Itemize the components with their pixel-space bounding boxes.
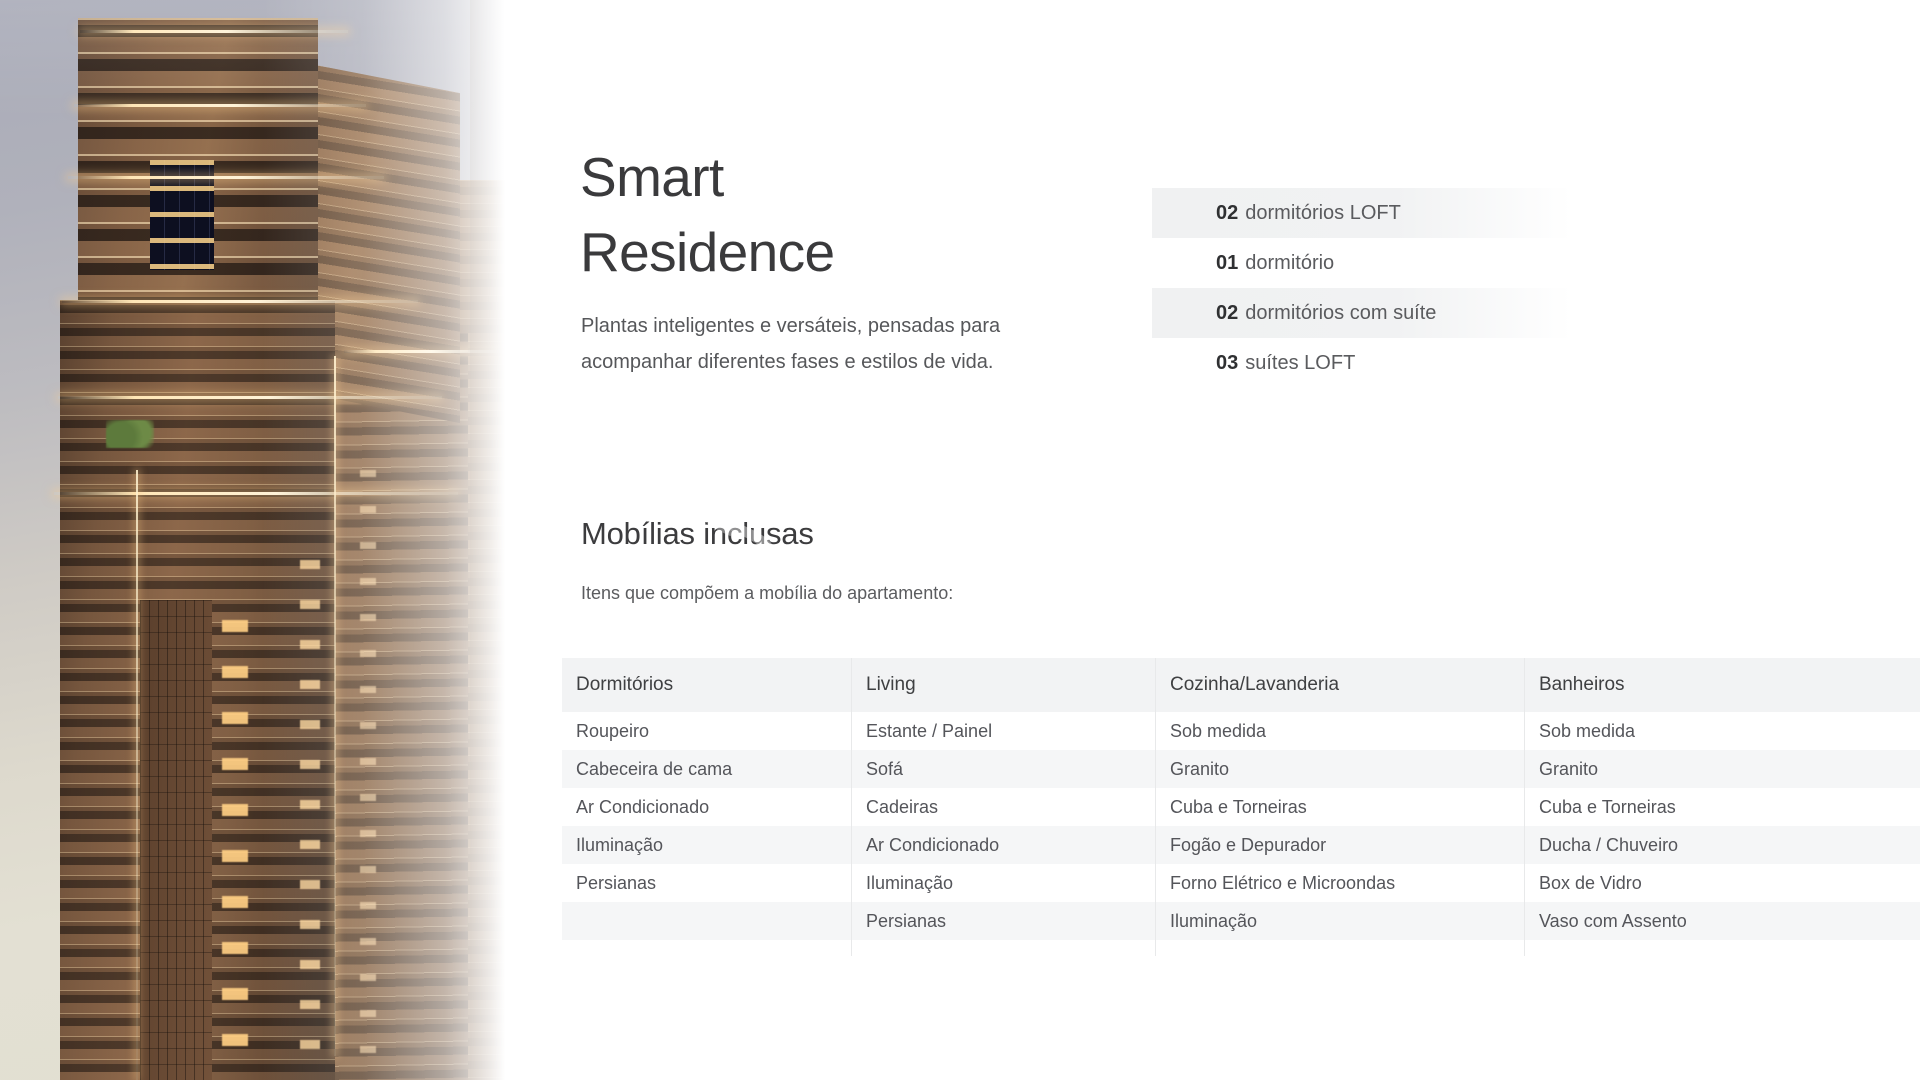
- table-row: Cabeceira de camaSofáGranitoGranito: [562, 750, 1920, 788]
- unit-type-row[interactable]: 02dormitórios LOFT: [1152, 188, 1572, 238]
- furniture-item-cell: Roupeiro: [576, 712, 649, 750]
- furniture-section-title: Mobílias inclusas: [581, 516, 814, 552]
- unit-type-label: dormitórios com suíte: [1245, 302, 1436, 325]
- furniture-item-cell: Estante / Painel: [866, 712, 992, 750]
- column-divider-2: [1155, 658, 1156, 956]
- furniture-table: DormitóriosLivingCozinha/LavanderiaBanhe…: [562, 658, 1920, 956]
- table-tail-whitespace: [562, 956, 1920, 1080]
- furniture-item-cell: Vaso com Assento: [1539, 902, 1687, 940]
- unit-type-count: 03: [1216, 352, 1238, 375]
- furniture-table-header-row: DormitóriosLivingCozinha/LavanderiaBanhe…: [562, 658, 1920, 712]
- page-title-line-1: Smart: [580, 140, 1010, 215]
- furniture-item-cell: Granito: [1170, 750, 1229, 788]
- column-divider-1: [851, 658, 852, 956]
- furniture-item-cell: Forno Elétrico e Microondas: [1170, 864, 1395, 902]
- page-lead-text: Plantas inteligentes e versáteis, pensad…: [581, 308, 1081, 380]
- furniture-column-header: Dormitórios: [576, 658, 673, 712]
- table-row: IluminaçãoAr CondicionadoFogão e Depurad…: [562, 826, 1920, 864]
- furniture-item-cell: Persianas: [576, 864, 656, 902]
- furniture-item-cell: Sofá: [866, 750, 903, 788]
- page-title-line-2: Residence: [580, 215, 1010, 290]
- furniture-item-cell: Cadeiras: [866, 788, 938, 826]
- unit-type-row[interactable]: 02dormitórios com suíte: [1152, 288, 1572, 338]
- unit-type-count: 02: [1216, 202, 1238, 225]
- page-title: Smart Residence: [580, 140, 1010, 290]
- furniture-column-header: Banheiros: [1539, 658, 1625, 712]
- furniture-section-subtitle: Itens que compõem a mobília do apartamen…: [581, 583, 953, 604]
- unit-type-row[interactable]: 03suítes LOFT: [1152, 338, 1572, 388]
- table-row: PersianasIluminaçãoVaso com Assento: [562, 902, 1920, 940]
- unit-type-row[interactable]: 01dormitório: [1152, 238, 1572, 288]
- furniture-item-cell: Sob medida: [1170, 712, 1266, 750]
- furniture-item-cell: Ar Condicionado: [576, 788, 709, 826]
- table-row: Ar CondicionadoCadeirasCuba e TorneirasC…: [562, 788, 1920, 826]
- furniture-item-cell: Fogão e Depurador: [1170, 826, 1326, 864]
- unit-type-count: 02: [1216, 302, 1238, 325]
- furniture-column-header: Cozinha/Lavanderia: [1170, 658, 1339, 712]
- table-row: RoupeiroEstante / PainelSob medidaSob me…: [562, 712, 1920, 750]
- brand-watermark-logo: [676, 432, 794, 584]
- furniture-item-cell: Ar Condicionado: [866, 826, 999, 864]
- unit-type-label: dormitório: [1245, 252, 1334, 275]
- furniture-table-body: RoupeiroEstante / PainelSob medidaSob me…: [562, 712, 1920, 940]
- furniture-item-cell: Cuba e Torneiras: [1170, 788, 1307, 826]
- unit-type-label: suítes LOFT: [1245, 352, 1355, 375]
- furniture-column-header: Living: [866, 658, 916, 712]
- furniture-item-cell: Persianas: [866, 902, 946, 940]
- furniture-item-cell: Sob medida: [1539, 712, 1635, 750]
- furniture-item-cell: Box de Vidro: [1539, 864, 1642, 902]
- unit-type-label: dormitórios LOFT: [1245, 202, 1401, 225]
- furniture-item-cell: Iluminação: [576, 826, 663, 864]
- furniture-item-cell: Ducha / Chuveiro: [1539, 826, 1678, 864]
- furniture-item-cell: Granito: [1539, 750, 1598, 788]
- furniture-item-cell: Iluminação: [866, 864, 953, 902]
- column-divider-3: [1524, 658, 1525, 956]
- furniture-item-cell: Cabeceira de cama: [576, 750, 732, 788]
- table-row: PersianasIluminaçãoForno Elétrico e Micr…: [562, 864, 1920, 902]
- furniture-item-cell: Cuba e Torneiras: [1539, 788, 1676, 826]
- unit-type-list: 02dormitórios LOFT01dormitório02dormitór…: [1152, 188, 1572, 388]
- furniture-item-cell: Iluminação: [1170, 902, 1257, 940]
- unit-type-count: 01: [1216, 252, 1238, 275]
